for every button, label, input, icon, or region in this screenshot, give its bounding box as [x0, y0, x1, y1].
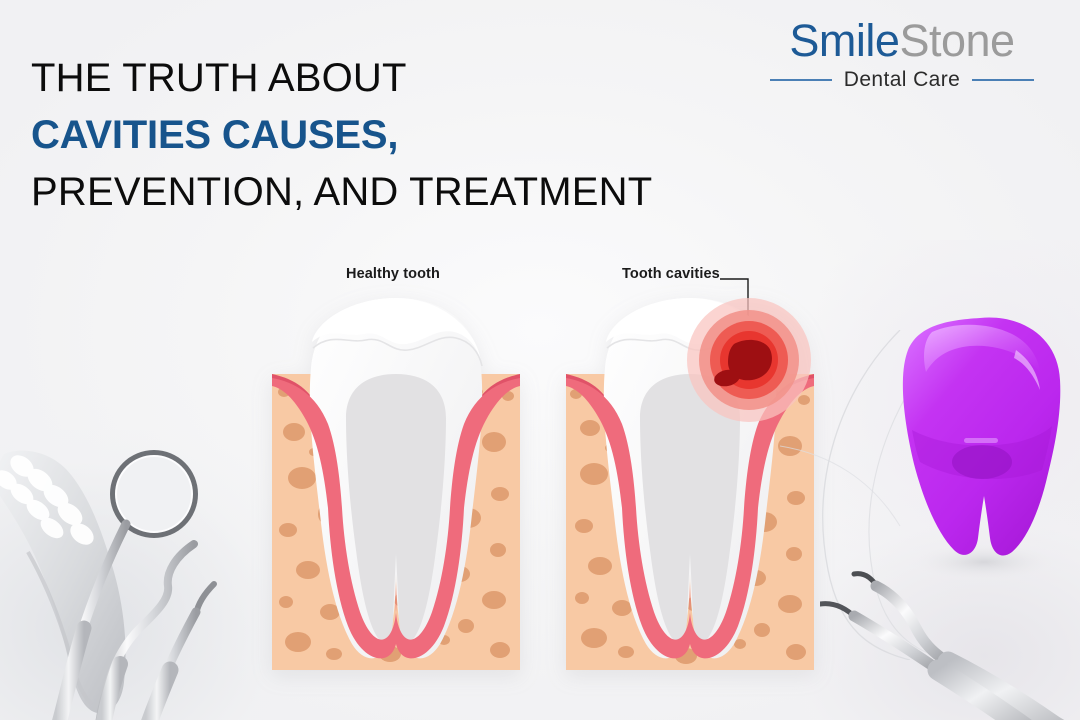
logo-rule-right — [972, 79, 1034, 81]
dental-instruments-left — [0, 432, 288, 720]
headline-line-1: THE TRUTH ABOUT — [31, 50, 652, 107]
logo-rule-left — [770, 79, 832, 81]
brand-logo[interactable]: SmileStone Dental Care — [752, 16, 1052, 92]
logo-tagline: Dental Care — [844, 68, 960, 92]
floss-dispenser-icon — [892, 310, 1068, 578]
logo-word-smile: Smile — [789, 15, 899, 66]
banner-canvas: SmileStone Dental Care THE TRUTH ABOUT C… — [0, 0, 1080, 720]
logo-tagline-row: Dental Care — [752, 68, 1052, 92]
label-healthy-tooth: Healthy tooth — [346, 266, 440, 282]
diagram-cavity-tooth — [566, 282, 814, 670]
dental-scaler-icon — [144, 584, 214, 720]
dental-curette-icon — [820, 604, 1036, 720]
headline-line-3: PREVENTION, AND TREATMENT — [31, 164, 652, 221]
toothbrush-icon — [0, 451, 126, 714]
logo-wordmark: SmileStone — [752, 16, 1052, 66]
headline-block: THE TRUTH ABOUT CAVITIES CAUSES, PREVENT… — [31, 50, 652, 221]
dental-instruments-right — [820, 556, 1080, 720]
label-tooth-cavities: Tooth cavities — [622, 266, 720, 282]
headline-line-2: CAVITIES CAUSES, — [31, 107, 652, 164]
logo-word-stone: Stone — [899, 15, 1014, 66]
diagram-healthy-tooth — [272, 282, 520, 670]
